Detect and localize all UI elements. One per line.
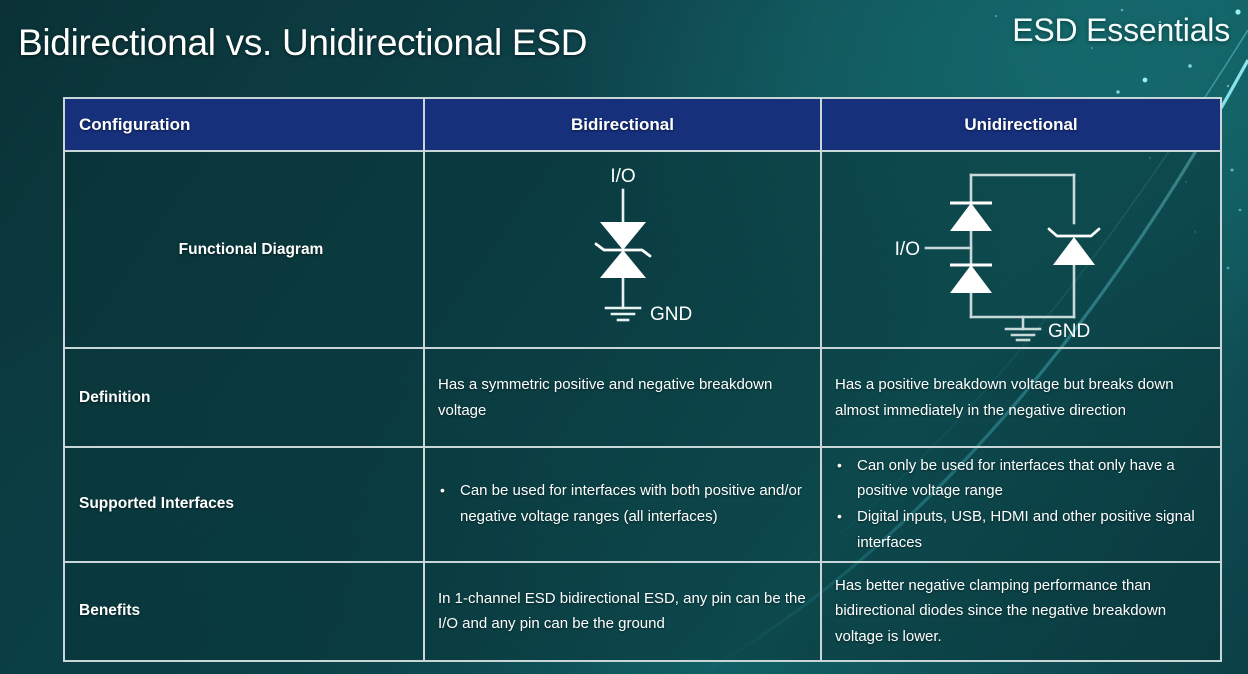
cell-bidirectional-functional-diagram: I/O GND	[423, 152, 820, 347]
cell-unidirectional-definition: Has a positive breakdown voltage but bre…	[820, 349, 1220, 445]
gnd-label-unidirectional: GND	[1048, 321, 1090, 342]
gnd-label-bidirectional: GND	[650, 304, 692, 325]
table-row-supported-interfaces: Supported Interfaces Can be used for int…	[65, 446, 1220, 561]
cell-unidirectional-functional-diagram: I/O GND	[820, 152, 1220, 347]
cell-unidirectional-benefits: Has better negative clamping performance…	[820, 563, 1220, 660]
row-label-benefits: Benefits	[65, 602, 140, 620]
text-unidirectional-definition: Has a positive breakdown voltage but bre…	[822, 362, 1220, 434]
slide-title: Bidirectional vs. Unidirectional ESD	[18, 22, 587, 64]
header-label-unidirectional: Unidirectional	[964, 115, 1077, 135]
text-unidirectional-benefits: Has better negative clamping performance…	[822, 563, 1220, 660]
table-row-definition: Definition Has a symmetric positive and …	[65, 347, 1220, 445]
io-label-bidirectional: I/O	[610, 166, 635, 187]
table-row-benefits: Benefits In 1-channel ESD bidirectional …	[65, 561, 1220, 660]
row-label-cell-functional-diagram: Functional Diagram	[65, 152, 423, 347]
header-cell-bidirectional: Bidirectional	[423, 99, 820, 150]
row-label-definition: Definition	[65, 389, 150, 407]
row-label-cell-supported-interfaces: Supported Interfaces	[65, 448, 423, 561]
bidirectional-diagram: I/O GND	[425, 152, 820, 347]
header-cell-configuration: Configuration	[65, 99, 423, 150]
diode-triangle-lower	[600, 250, 646, 278]
steering-diode-lower	[950, 265, 992, 293]
cell-bidirectional-supported-interfaces: Can be used for interfaces with both pos…	[423, 448, 820, 561]
table-header-row: Configuration Bidirectional Unidirection…	[65, 99, 1220, 150]
zener-clamp-diode	[1053, 237, 1095, 265]
steering-diode-upper	[950, 203, 992, 231]
header-label-configuration: Configuration	[79, 115, 190, 135]
diode-triangle-upper	[600, 222, 646, 250]
slide-kicker: ESD Essentials	[1012, 12, 1230, 49]
text-bidirectional-benefits: In 1-channel ESD bidirectional ESD, any …	[425, 576, 820, 648]
cell-bidirectional-benefits: In 1-channel ESD bidirectional ESD, any …	[423, 563, 820, 660]
list-item: Can be used for interfaces with both pos…	[437, 478, 810, 530]
table-row-functional-diagram: Functional Diagram	[65, 150, 1220, 347]
row-label-functional-diagram: Functional Diagram	[165, 241, 324, 259]
row-label-cell-definition: Definition	[65, 349, 423, 445]
row-label-cell-benefits: Benefits	[65, 563, 423, 660]
list-item: Digital inputs, USB, HDMI and other posi…	[834, 504, 1210, 556]
header-label-bidirectional: Bidirectional	[571, 115, 674, 135]
unidirectional-diagram: I/O GND	[822, 152, 1220, 347]
header-cell-unidirectional: Unidirectional	[820, 99, 1220, 150]
io-label-unidirectional: I/O	[895, 239, 920, 260]
cell-bidirectional-definition: Has a symmetric positive and negative br…	[423, 349, 820, 445]
comparison-table: Configuration Bidirectional Unidirection…	[63, 97, 1222, 662]
unidirectional-esd-schematic: I/O GND	[886, 157, 1156, 342]
bidirectional-tvs-diode-schematic: I/O GND	[518, 160, 728, 340]
cell-unidirectional-supported-interfaces: Can only be used for interfaces that onl…	[820, 448, 1220, 561]
row-label-supported-interfaces: Supported Interfaces	[65, 495, 234, 513]
bullet-list-bidirectional-interfaces: Can be used for interfaces with both pos…	[425, 470, 820, 538]
bullet-list-unidirectional-interfaces: Can only be used for interfaces that onl…	[822, 445, 1220, 564]
list-item: Can only be used for interfaces that onl…	[834, 453, 1210, 505]
zener-clamp-bar	[1049, 229, 1099, 236]
text-bidirectional-definition: Has a symmetric positive and negative br…	[425, 362, 820, 434]
